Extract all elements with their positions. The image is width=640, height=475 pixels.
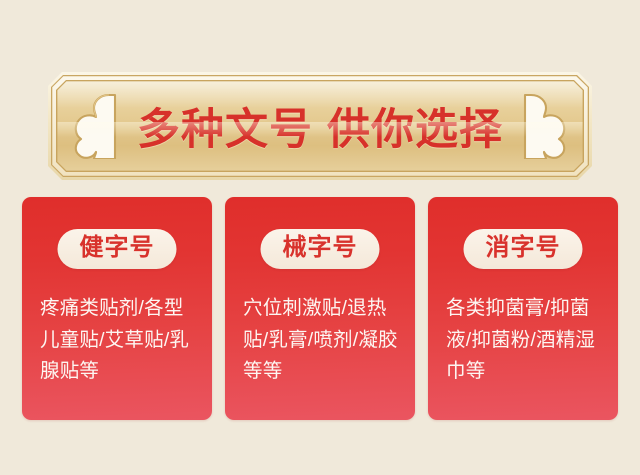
page-title: 多种文号 供你选择 xyxy=(57,81,582,170)
category-description: 穴位刺激贴/退热贴/乳膏/喷剂/凝胶等等 xyxy=(243,293,401,388)
category-badge: 械字号 xyxy=(261,229,380,269)
category-badge: 消字号 xyxy=(464,229,583,269)
category-description: 疼痛类贴剂/各型儿童贴/艾草贴/乳腺贴等 xyxy=(40,293,198,388)
category-card-xiezihao[interactable]: 械字号 穴位刺激贴/退热贴/乳膏/喷剂/凝胶等等 xyxy=(225,197,415,420)
category-card-jianzihao[interactable]: 健字号 疼痛类贴剂/各型儿童贴/艾草贴/乳腺贴等 xyxy=(22,197,212,420)
page-title-main: 多种文号 xyxy=(137,95,313,157)
category-card-xiaozihao[interactable]: 消字号 各类抑菌膏/抑菌液/抑菌粉/酒精湿巾等 xyxy=(428,197,618,420)
page-title-sub: 供你选择 xyxy=(327,95,503,157)
title-plaque: 多种文号 供你选择 xyxy=(48,72,592,180)
category-description: 各类抑菌膏/抑菌液/抑菌粉/酒精湿巾等 xyxy=(446,293,604,388)
category-card-list: 健字号 疼痛类贴剂/各型儿童贴/艾草贴/乳腺贴等 械字号 穴位刺激贴/退热贴/乳… xyxy=(22,197,618,420)
category-badge-label: 健字号 xyxy=(80,234,155,262)
category-badge: 健字号 xyxy=(58,229,177,269)
category-badge-label: 械字号 xyxy=(283,234,358,262)
category-badge-label: 消字号 xyxy=(486,234,561,262)
plaque-face: 多种文号 供你选择 xyxy=(57,81,582,170)
promo-banner-page: 多种文号 供你选择 健字号 疼痛类贴剂/各型儿童贴/艾草贴/乳腺贴等 械字号 穴… xyxy=(0,0,640,475)
